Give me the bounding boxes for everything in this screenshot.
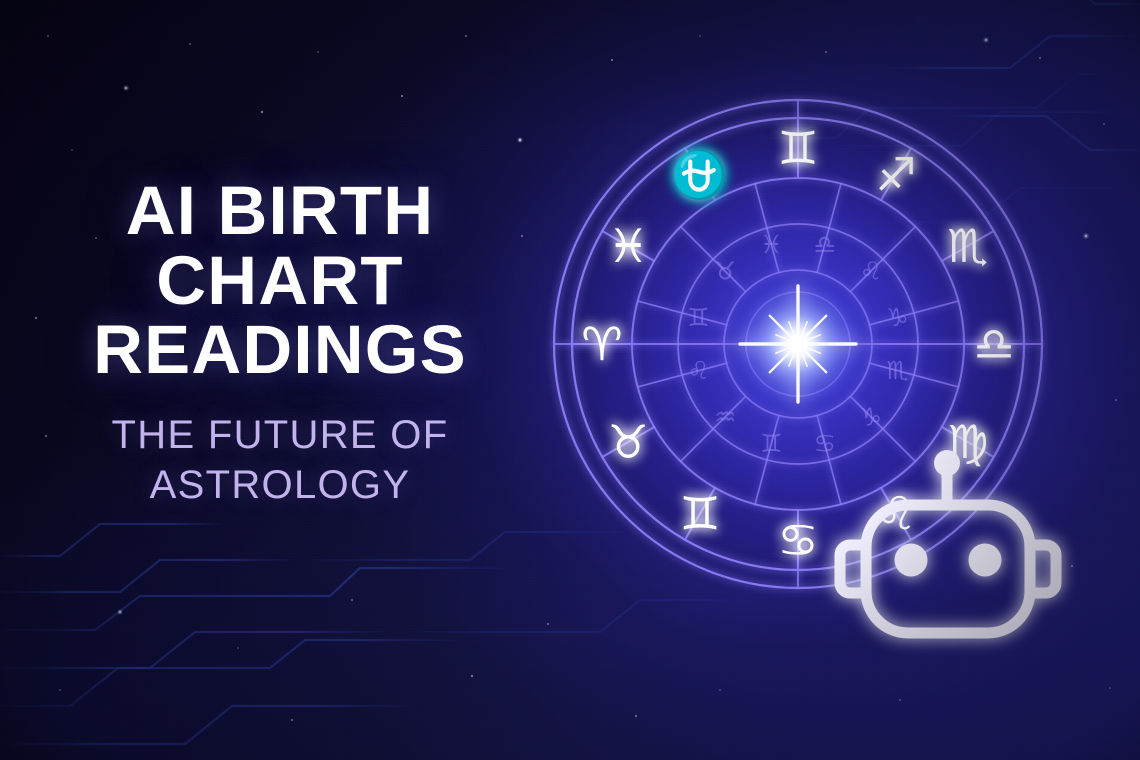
robot-eye-right: [969, 544, 1002, 577]
robot-eye-left: [895, 544, 928, 577]
subtitle-line-1: THE FUTURE OF: [0, 412, 560, 458]
poster-canvas: ♐♏♎♍♌♋♊♉♈♓⛎♊♎♌♑♏♑♋♊♒♌♊♉♓ AI BIRTH CHART: [0, 0, 1140, 760]
robot-antenna-ball: [934, 450, 960, 476]
headline-line-1: AI BIRTH: [0, 176, 560, 246]
subtitle-line-2: ASTROLOGY: [0, 462, 560, 508]
headline-line-3: READINGS: [0, 315, 560, 385]
headline-line-2: CHART: [0, 246, 560, 316]
robot-head-outline: [866, 505, 1030, 633]
headline-block: AI BIRTH CHART READINGS THE FUTURE OF AS…: [0, 176, 560, 509]
